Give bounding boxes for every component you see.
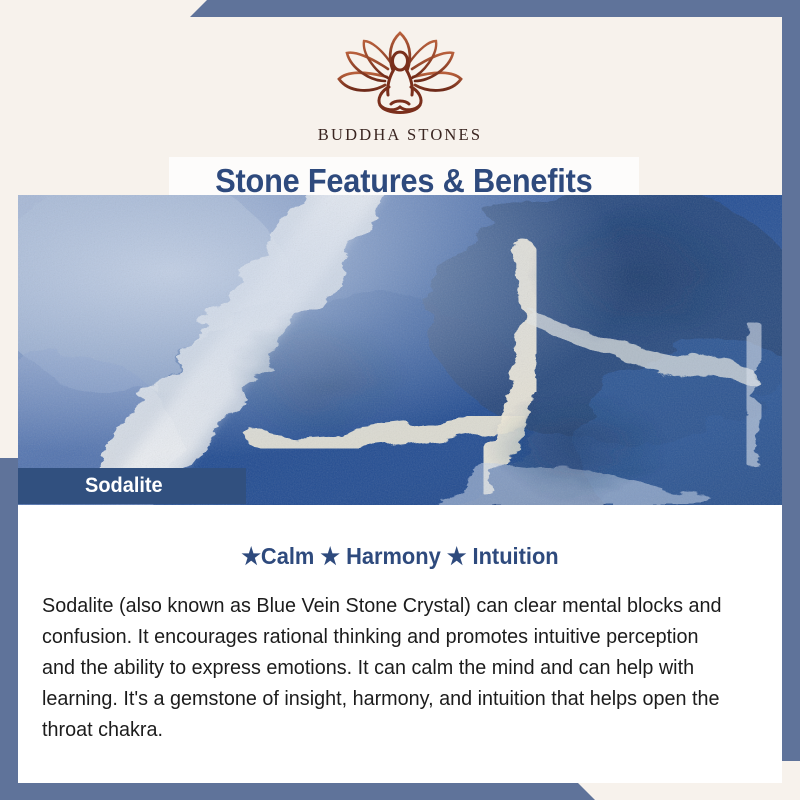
decor-left-strip <box>0 458 18 783</box>
lotus-meditation-icon <box>325 31 475 123</box>
stone-description: Sodalite (also known as Blue Vein Stone … <box>42 590 729 745</box>
brand-name: BUDDHA STONES <box>318 125 482 145</box>
sodalite-texture-image <box>18 195 782 505</box>
stone-info-poster: BUDDHA STONES Stone Features & Benefits <box>0 0 800 800</box>
brand-logo: BUDDHA STONES <box>18 31 782 145</box>
decor-top-right-band <box>190 0 800 17</box>
stone-content: ★Calm ★ Harmony ★ Intuition Sodalite (al… <box>18 505 782 783</box>
stone-photo: Sodalite <box>18 195 782 505</box>
decor-bottom-left-band <box>0 782 595 800</box>
poster-card: BUDDHA STONES Stone Features & Benefits <box>18 17 782 783</box>
stone-keywords: ★Calm ★ Harmony ★ Intuition <box>37 543 763 570</box>
stone-name-text: Sodalite <box>85 474 163 498</box>
poster-header: BUDDHA STONES Stone Features & Benefits <box>18 17 782 195</box>
stone-name-label: Sodalite <box>18 468 246 504</box>
decor-right-strip <box>782 17 800 761</box>
